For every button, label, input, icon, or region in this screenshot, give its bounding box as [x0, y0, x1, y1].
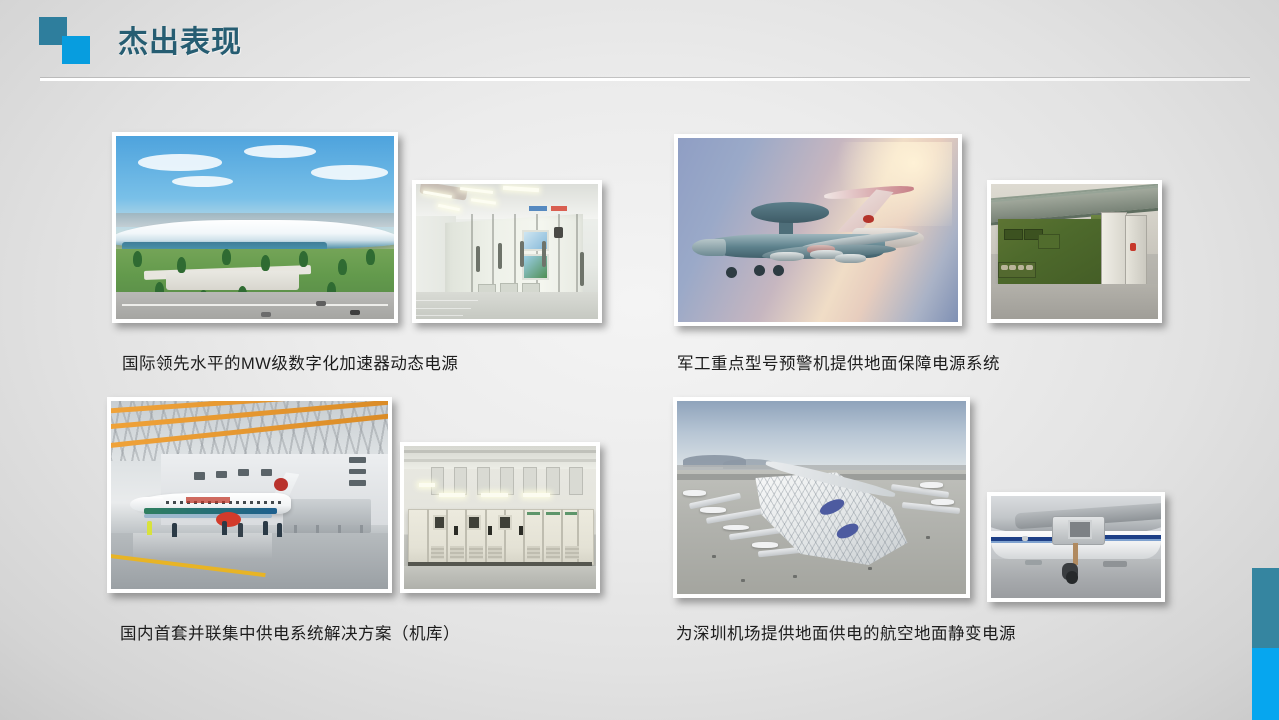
caption-hangar-parallel-power: 国内首套并联集中供电系统解决方案（机库） [120, 620, 460, 644]
power-cabinet-room-photo [400, 442, 600, 593]
caption-accelerator-power: 国际领先水平的MW级数字化加速器动态电源 [122, 350, 458, 374]
aircraft-ground-power-scene [991, 496, 1161, 598]
slide-canvas: 杰出表现 [0, 0, 1279, 720]
control-cabinet-hall-photo [412, 180, 602, 323]
corner-accent-top [1252, 568, 1279, 648]
aircraft-ground-power-photo [987, 492, 1165, 602]
page-title: 杰出表现 [118, 17, 242, 61]
stadium-aerial-scene [116, 136, 394, 319]
military-green-shelter-photo [987, 180, 1162, 323]
power-cabinet-room-scene [404, 446, 596, 589]
logo-square-light-icon [62, 36, 90, 64]
corner-accent-bottom [1252, 648, 1279, 720]
shenzhen-airport-terminal-scene [677, 401, 966, 594]
control-cabinet-hall-scene [416, 184, 598, 319]
aircraft-hangar-photo [107, 397, 392, 593]
caption-shenzhen-airport-gpu: 为深圳机场提供地面供电的航空地面静变电源 [676, 620, 1016, 644]
stadium-aerial-photo [112, 132, 398, 323]
caption-awacs-ground-power: 军工重点型号预警机提供地面保障电源系统 [677, 350, 1000, 374]
military-green-shelter-scene [991, 184, 1158, 319]
aircraft-hangar-scene [111, 401, 388, 589]
header-divider [40, 78, 1250, 81]
awacs-aircraft-photo [674, 134, 962, 326]
shenzhen-airport-terminal-photo [673, 397, 970, 598]
awacs-aircraft-scene [678, 138, 958, 322]
